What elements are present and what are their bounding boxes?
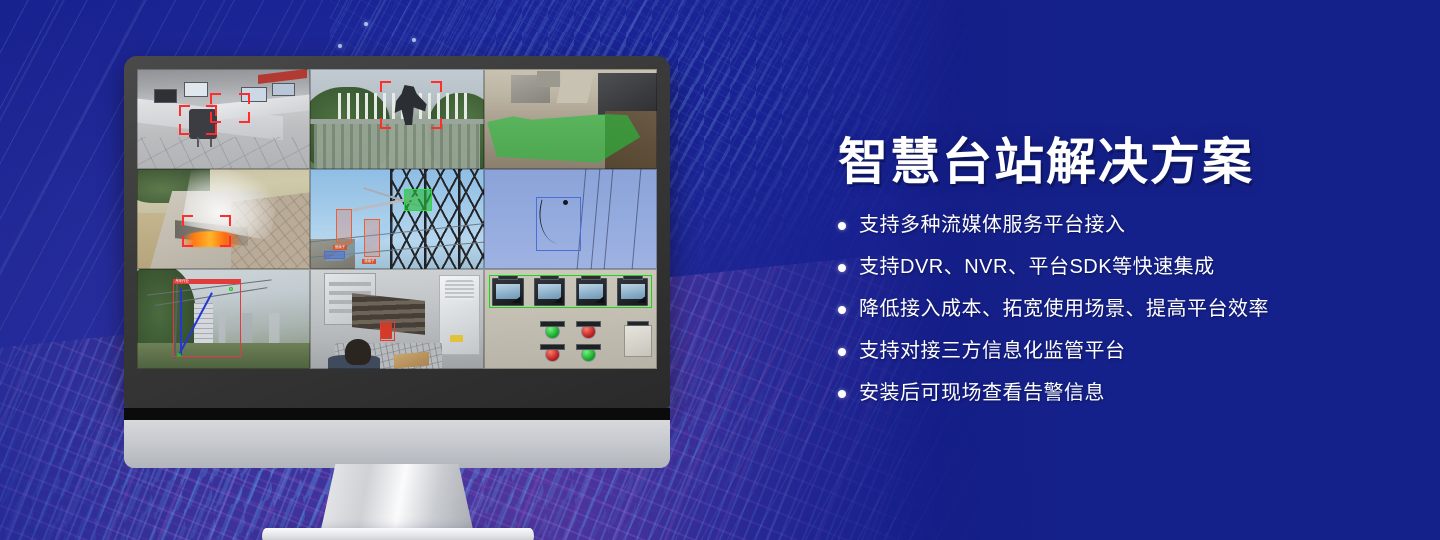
feature-item: 降低接入成本、拓宽使用场景、提高平台效率	[838, 295, 1398, 324]
monitor-bezel: 绝缘子 绝缘子 吊车作业	[124, 56, 670, 408]
feature-item-label: 降低接入成本、拓宽使用场景、提高平台效率	[859, 295, 1269, 324]
detection-label-insulator: 绝缘子	[362, 259, 376, 264]
feature-item-label: 支持DVR、NVR、平台SDK等快速集成	[859, 253, 1215, 282]
panel-gauge	[492, 278, 523, 306]
video-cell-crane-operation[interactable]: 吊车作业	[137, 269, 310, 369]
panel-gauge	[576, 278, 607, 306]
video-cell-foreign-object-on-line[interactable]	[484, 169, 657, 269]
page-title: 智慧台站解决方案	[838, 136, 1398, 189]
video-cell-equipment-room[interactable]	[310, 269, 483, 369]
video-wall-screen: 绝缘子 绝缘子 吊车作业	[137, 69, 657, 369]
copy-column: 智慧台站解决方案 支持多种流媒体服务平台接入 支持DVR、NVR、平台SDK等快…	[838, 136, 1398, 421]
feature-item-label: 支持多种流媒体服务平台接入	[859, 211, 1126, 240]
panel-gauge	[617, 278, 648, 306]
feature-item-label: 安装后可现场查看告警信息	[859, 379, 1105, 408]
video-cell-control-panel[interactable]	[484, 269, 657, 369]
feature-item: 支持DVR、NVR、平台SDK等快速集成	[838, 253, 1398, 282]
banner-root: 绝缘子 绝缘子 吊车作业	[0, 0, 1440, 540]
monitor-stand-neck	[320, 464, 474, 534]
feature-item: 安装后可现场查看告警信息	[838, 379, 1398, 408]
monitor-stand-base	[262, 528, 534, 540]
video-cell-fence-intrusion[interactable]	[310, 69, 483, 169]
bullet-dot-icon	[838, 306, 846, 314]
bullet-dot-icon	[838, 222, 846, 230]
bullet-dot-icon	[838, 348, 846, 356]
feature-item: 支持对接三方信息化监管平台	[838, 337, 1398, 366]
feature-item-label: 支持对接三方信息化监管平台	[859, 337, 1126, 366]
bullet-dot-icon	[838, 390, 846, 398]
desktop-monitor: 绝缘子 绝缘子 吊车作业	[124, 56, 670, 496]
video-cell-safety-zone[interactable]	[484, 69, 657, 169]
panel-gauge	[534, 278, 565, 306]
bullet-dot-icon	[838, 264, 846, 272]
feature-item: 支持多种流媒体服务平台接入	[838, 211, 1398, 240]
video-cell-control-room[interactable]	[137, 69, 310, 169]
panel-side-device	[624, 325, 652, 357]
feature-list: 支持多种流媒体服务平台接入 支持DVR、NVR、平台SDK等快速集成 降低接入成…	[838, 211, 1398, 408]
video-cell-fire-detection[interactable]	[137, 169, 310, 269]
monitor-chin	[124, 420, 670, 468]
video-cell-transmission-tower[interactable]: 绝缘子 绝缘子	[310, 169, 483, 269]
